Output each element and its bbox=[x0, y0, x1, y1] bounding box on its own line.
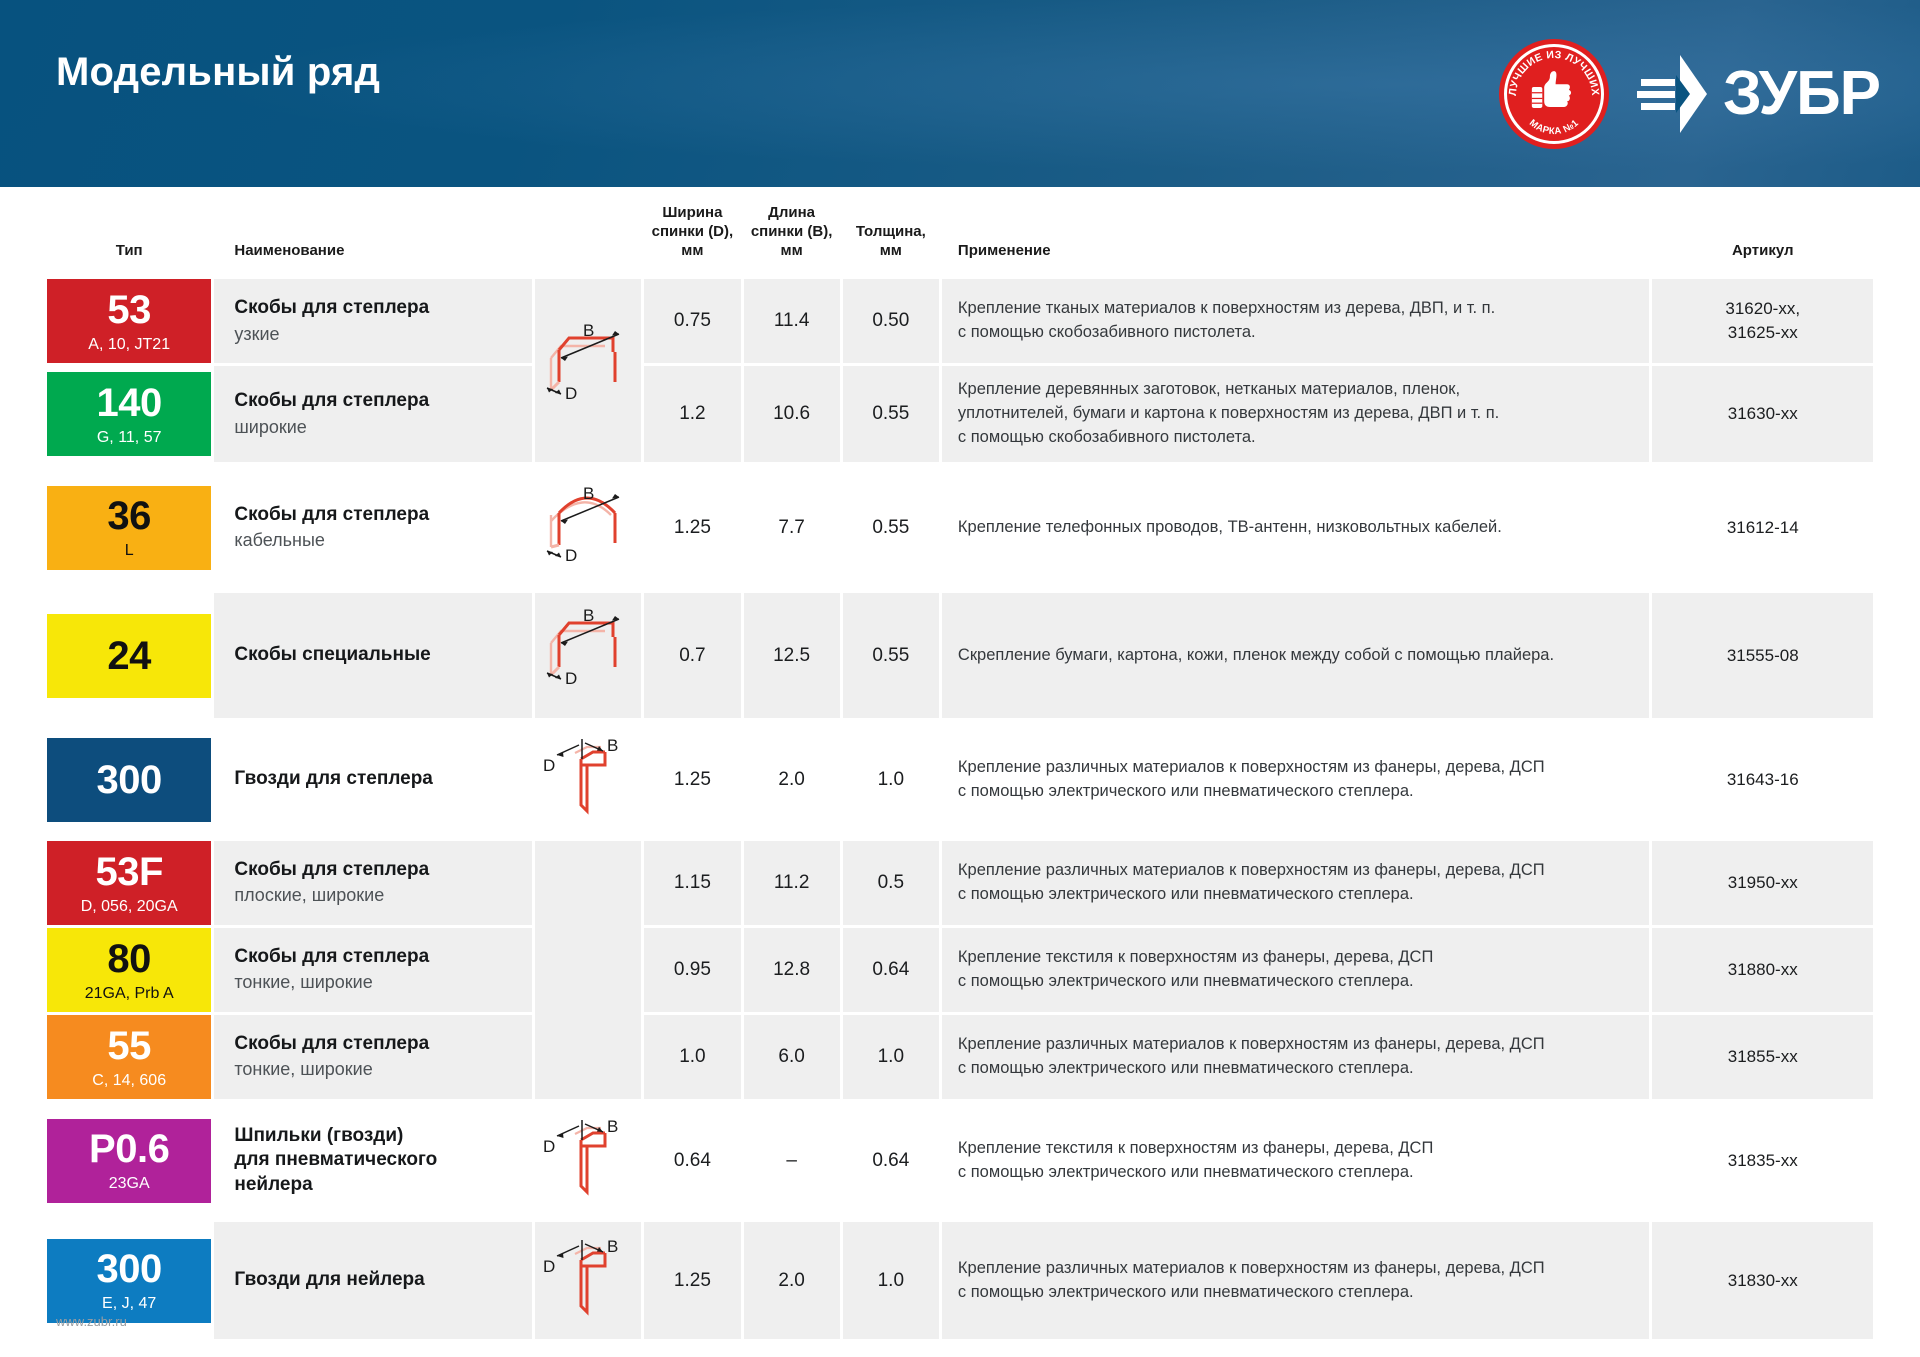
column-header-length-line1: Длина bbox=[750, 204, 834, 223]
application-text: Скрепление бумаги, картона, кожи, пленок… bbox=[942, 593, 1650, 718]
type-badge-cell: 53F D, 056, 20GA bbox=[47, 841, 211, 925]
article-number: 31612-14 bbox=[1652, 465, 1873, 590]
product-name-sub: узкие bbox=[234, 323, 520, 346]
type-number: 55 bbox=[107, 1026, 151, 1066]
product-name: Скобы для степлера bbox=[234, 389, 520, 413]
diagram-label-b: B bbox=[607, 1237, 618, 1256]
diagram-label-b: B bbox=[607, 1117, 618, 1136]
type-badge: 53F D, 056, 20GA bbox=[47, 841, 211, 925]
brand-logo-group: ЛУЧШИЕ ИЗ ЛУЧШИХ МАРКА №1 bbox=[1499, 0, 1880, 187]
length-value: 7.7 bbox=[744, 465, 840, 590]
product-name: Гвозди для нейлера bbox=[234, 1268, 520, 1292]
product-name: Скобы для степлера bbox=[234, 503, 520, 527]
thickness-value: 0.55 bbox=[843, 593, 939, 718]
thickness-value: 0.50 bbox=[843, 279, 939, 363]
width-value: 1.25 bbox=[644, 721, 740, 838]
diagram-label-b: B bbox=[583, 606, 594, 625]
type-badge-cell: P0.6 23GA bbox=[47, 1102, 211, 1219]
product-name-cell: Скобы для степлера широкие bbox=[214, 366, 532, 462]
type-badge-cell: 55 C, 14, 606 bbox=[47, 1015, 211, 1099]
type-number: 80 bbox=[107, 939, 151, 979]
product-name: Гвозди для степлера bbox=[234, 767, 520, 791]
article-number: 31950-xx bbox=[1652, 841, 1873, 925]
product-name: Скобы для степлера bbox=[234, 1032, 520, 1056]
diagram-cell: D B bbox=[535, 1222, 641, 1339]
table-row: 53 A, 10, JT21 Скобы для степлера узкие bbox=[47, 279, 1873, 363]
length-value: 12.5 bbox=[744, 593, 840, 718]
width-value: 1.0 bbox=[644, 1015, 740, 1099]
best-of-best-badge-icon: ЛУЧШИЕ ИЗ ЛУЧШИХ МАРКА №1 bbox=[1499, 39, 1609, 149]
diagram-label-d: D bbox=[565, 669, 577, 688]
table-header-row: Тип Наименование Ширина спинки (D), мм Д… bbox=[47, 190, 1873, 276]
application-text: Крепление тканых материалов к поверхност… bbox=[942, 279, 1650, 363]
product-name-cell: Гвозди для степлера bbox=[214, 721, 532, 838]
nail-diagram-icon: D B bbox=[535, 1226, 641, 1330]
nail-diagram-icon: D B bbox=[535, 725, 641, 829]
type-badge-cell: 36 L bbox=[47, 465, 211, 590]
column-header-type: Тип bbox=[47, 190, 211, 276]
product-name-cell: Скобы для степлера узкие bbox=[214, 279, 532, 363]
length-value: 6.0 bbox=[744, 1015, 840, 1099]
width-value: 0.75 bbox=[644, 279, 740, 363]
article-number: 31630-xx bbox=[1652, 366, 1873, 462]
type-badge: 80 21GA, Prb A bbox=[47, 928, 211, 1012]
thickness-value: 0.55 bbox=[843, 465, 939, 590]
product-name-sub: тонкие, широкие bbox=[234, 1058, 520, 1081]
table-row: 36 L Скобы для степлера кабельные bbox=[47, 465, 1873, 590]
product-name-cell: Гвозди для нейлера bbox=[214, 1222, 532, 1339]
product-name: Скобы для степлера bbox=[234, 296, 520, 320]
diagram-label-b: B bbox=[607, 736, 618, 755]
zubr-wordmark: ЗУБР bbox=[1635, 53, 1880, 135]
diagram-cell: B D bbox=[535, 279, 641, 462]
zubr-brand-text: ЗУБР bbox=[1723, 63, 1880, 125]
thickness-value: 0.55 bbox=[843, 366, 939, 462]
type-number: P0.6 bbox=[89, 1129, 169, 1169]
article-number: 31855-xx bbox=[1652, 1015, 1873, 1099]
staple-diagram-icon: B D bbox=[535, 312, 641, 424]
type-badge: P0.6 23GA bbox=[47, 1119, 211, 1203]
column-header-width-line2: спинки (D), мм bbox=[650, 223, 734, 261]
type-badge-cell: 300 bbox=[47, 721, 211, 838]
type-badge: 36 L bbox=[47, 486, 211, 570]
product-name-cell: Скобы для степлера тонкие, широкие bbox=[214, 1015, 532, 1099]
type-badge-cell: 80 21GA, Prb A bbox=[47, 928, 211, 1012]
length-value: – bbox=[744, 1102, 840, 1219]
length-value: 2.0 bbox=[744, 721, 840, 838]
product-name: Скобы специальные bbox=[234, 643, 520, 667]
model-range-table-wrap: Тип Наименование Ширина спинки (D), мм Д… bbox=[0, 187, 1920, 1342]
column-header-diagram bbox=[535, 190, 641, 276]
type-badge-cell: 53 A, 10, JT21 bbox=[47, 279, 211, 363]
column-header-article: Артикул bbox=[1652, 190, 1873, 276]
page-header: Модельный ряд ЛУЧШИЕ ИЗ ЛУЧШИХ МАРКА №1 bbox=[0, 0, 1920, 187]
column-header-length: Длина спинки (B), мм bbox=[744, 190, 840, 276]
diagram-label-d: D bbox=[543, 756, 555, 775]
table-row: 53F D, 056, 20GA Скобы для степлера плос… bbox=[47, 841, 1873, 925]
column-header-width: Ширина спинки (D), мм bbox=[644, 190, 740, 276]
article-number: 31835-xx bbox=[1652, 1102, 1873, 1219]
type-number: 140 bbox=[97, 383, 162, 423]
thickness-value: 0.5 bbox=[843, 841, 939, 925]
type-badge: 24 bbox=[47, 614, 211, 698]
width-value: 1.2 bbox=[644, 366, 740, 462]
diagram-label-b: B bbox=[583, 484, 594, 503]
product-name-sub: широкие bbox=[234, 416, 520, 439]
table-row: 24 Скобы специальные bbox=[47, 593, 1873, 718]
type-number: 300 bbox=[97, 1249, 162, 1289]
diagram-cell: B D bbox=[535, 593, 641, 718]
product-name-cell: Скобы для степлера кабельные bbox=[214, 465, 532, 590]
column-header-thickness-line2: мм bbox=[849, 242, 933, 261]
length-value: 10.6 bbox=[744, 366, 840, 462]
nail-diagram-icon: D B bbox=[535, 1106, 641, 1210]
column-header-thickness-line1: Толщина, bbox=[849, 223, 933, 242]
product-name-cell: Скобы для степлера плоские, широкие bbox=[214, 841, 532, 925]
column-header-length-line2: спинки (B), мм bbox=[750, 223, 834, 261]
table-row: P0.6 23GA Шпильки (гвозди)для пневматиче… bbox=[47, 1102, 1873, 1219]
length-value: 12.8 bbox=[744, 928, 840, 1012]
diagram-cell: D B bbox=[535, 1102, 641, 1219]
width-value: 0.7 bbox=[644, 593, 740, 718]
product-name-sub: кабельные bbox=[234, 529, 520, 552]
type-badge: 55 C, 14, 606 bbox=[47, 1015, 211, 1099]
application-text: Крепление различных материалов к поверхн… bbox=[942, 841, 1650, 925]
thickness-value: 1.0 bbox=[843, 721, 939, 838]
type-subcode: L bbox=[125, 543, 134, 559]
product-name-cell: Скобы для степлера тонкие, широкие bbox=[214, 928, 532, 1012]
width-value: 1.25 bbox=[644, 465, 740, 590]
diagram-label-d: D bbox=[543, 1257, 555, 1276]
type-subcode: 21GA, Prb A bbox=[85, 986, 174, 1002]
model-range-table: Тип Наименование Ширина спинки (D), мм Д… bbox=[44, 187, 1876, 1342]
diagram-cell: D B bbox=[535, 721, 641, 838]
article-number: 31643-16 bbox=[1652, 721, 1873, 838]
svg-text:МАРКА №1: МАРКА №1 bbox=[1527, 117, 1581, 137]
slide-root: Модельный ряд ЛУЧШИЕ ИЗ ЛУЧШИХ МАРКА №1 bbox=[0, 0, 1920, 1357]
footer-website: www.zubr.ru bbox=[56, 1314, 127, 1329]
article-number: 31830-xx bbox=[1652, 1222, 1873, 1339]
diagram-label-d: D bbox=[565, 384, 577, 403]
diagram-label-d: D bbox=[543, 1137, 555, 1156]
type-number: 300 bbox=[97, 760, 162, 800]
type-badge-cell: 140 G, 11, 57 bbox=[47, 366, 211, 462]
column-header-width-line1: Ширина bbox=[650, 204, 734, 223]
badge-arc-text-icon: ЛУЧШИЕ ИЗ ЛУЧШИХ МАРКА №1 bbox=[1499, 39, 1609, 149]
application-text: Крепление деревянных заготовок, нетканых… bbox=[942, 366, 1650, 462]
product-name-sub: плоские, широкие bbox=[234, 884, 520, 907]
table-row: 80 21GA, Prb A Скобы для степлера тонкие… bbox=[47, 928, 1873, 1012]
page-title: Модельный ряд bbox=[56, 50, 380, 95]
product-name-sub: тонкие, широкие bbox=[234, 971, 520, 994]
product-name: Скобы для степлера bbox=[234, 858, 520, 882]
type-badge-cell: 24 bbox=[47, 593, 211, 718]
type-badge: 300 bbox=[47, 738, 211, 822]
column-header-application: Применение bbox=[942, 190, 1650, 276]
application-text: Крепление текстиля к поверхностям из фан… bbox=[942, 928, 1650, 1012]
article-number: 31620-xx,31625-xx bbox=[1652, 279, 1873, 363]
diagram-label-d: D bbox=[565, 546, 577, 565]
table-row: 300 E, J, 47 Гвозди для нейлера D B 1.25… bbox=[47, 1222, 1873, 1339]
article-number: 31880-xx bbox=[1652, 928, 1873, 1012]
type-number: 36 bbox=[107, 496, 151, 536]
thickness-value: 1.0 bbox=[843, 1222, 939, 1339]
thickness-value: 1.0 bbox=[843, 1015, 939, 1099]
type-badge: 300 E, J, 47 bbox=[47, 1239, 211, 1323]
table-row: 140 G, 11, 57 Скобы для степлера широкие… bbox=[47, 366, 1873, 462]
product-name: Шпильки (гвозди)для пневматическогонейле… bbox=[234, 1124, 520, 1197]
staple-diagram-icon: B D bbox=[535, 469, 641, 581]
diagram-cell: B D bbox=[535, 465, 641, 590]
application-text: Крепление телефонных проводов, ТВ-антенн… bbox=[942, 465, 1650, 590]
application-text: Крепление различных материалов к поверхн… bbox=[942, 1015, 1650, 1099]
table-row: 55 C, 14, 606 Скобы для степлера тонкие,… bbox=[47, 1015, 1873, 1099]
zubr-diamond-icon bbox=[1635, 53, 1709, 135]
type-subcode: 23GA bbox=[109, 1176, 150, 1192]
length-value: 2.0 bbox=[744, 1222, 840, 1339]
type-subcode: G, 11, 57 bbox=[97, 430, 162, 446]
width-value: 1.25 bbox=[644, 1222, 740, 1339]
column-header-thickness: Толщина, мм bbox=[843, 190, 939, 276]
width-value: 1.15 bbox=[644, 841, 740, 925]
length-value: 11.4 bbox=[744, 279, 840, 363]
product-name-cell: Скобы специальные bbox=[214, 593, 532, 718]
badge-arc-bottom-text: МАРКА №1 bbox=[1527, 117, 1581, 137]
application-text: Крепление текстиля к поверхностям из фан… bbox=[942, 1102, 1650, 1219]
table-body: 53 A, 10, JT21 Скобы для степлера узкие bbox=[47, 279, 1873, 1339]
application-text: Крепление различных материалов к поверхн… bbox=[942, 1222, 1650, 1339]
type-number: 53 bbox=[107, 290, 151, 330]
column-header-name: Наименование bbox=[214, 190, 532, 276]
length-value: 11.2 bbox=[744, 841, 840, 925]
type-number: 53F bbox=[95, 852, 162, 892]
width-value: 0.64 bbox=[644, 1102, 740, 1219]
application-text: Крепление различных материалов к поверхн… bbox=[942, 721, 1650, 838]
type-badge: 53 A, 10, JT21 bbox=[47, 279, 211, 363]
thickness-value: 0.64 bbox=[843, 928, 939, 1012]
type-subcode: E, J, 47 bbox=[102, 1296, 156, 1312]
type-subcode: C, 14, 606 bbox=[92, 1073, 166, 1089]
article-number: 31555-08 bbox=[1652, 593, 1873, 718]
diagram-cell bbox=[535, 841, 641, 1099]
product-name-cell: Шпильки (гвозди)для пневматическогонейле… bbox=[214, 1102, 532, 1219]
type-number: 24 bbox=[107, 636, 151, 676]
type-badge: 140 G, 11, 57 bbox=[47, 372, 211, 456]
table-row: 300 Гвозди для степлера D B 1.25 2.0 bbox=[47, 721, 1873, 838]
staple-diagram-icon: B D bbox=[535, 597, 641, 709]
thumbs-up-icon bbox=[1532, 71, 1571, 108]
type-subcode: A, 10, JT21 bbox=[88, 337, 170, 353]
width-value: 0.95 bbox=[644, 928, 740, 1012]
type-subcode: D, 056, 20GA bbox=[81, 899, 178, 915]
product-name: Скобы для степлера bbox=[234, 945, 520, 969]
diagram-label-b: B bbox=[583, 321, 594, 340]
thickness-value: 0.64 bbox=[843, 1102, 939, 1219]
